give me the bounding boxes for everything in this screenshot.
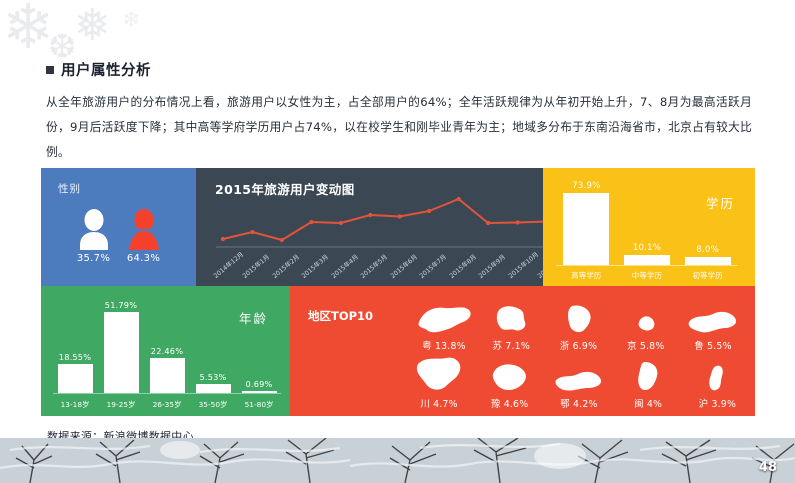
bullet-square-icon [46, 66, 54, 74]
panel-gender-title: 性别 [58, 181, 81, 196]
slide-canvas: ❄ ❅ ❆ ❄ 用户属性分析 从全年旅游用户的分布情况上看，旅游用户以女性为主，… [0, 0, 795, 483]
jiangsu-map-icon [491, 300, 531, 336]
age-bar-value: 5.53% [199, 372, 226, 382]
education-bar-group: 10.1% [621, 180, 673, 265]
region-label: 沪 3.9% [699, 396, 736, 410]
education-x-axis-labels: 高等学历中等学历初等学历 [556, 270, 738, 281]
age-bar [242, 391, 277, 393]
region-row-1: 粤 13.8%苏 7.1%浙 6.9%京 5.8%鲁 5.5% [412, 294, 747, 352]
age-bar [150, 358, 185, 393]
age-bar-value: 22.46% [151, 346, 183, 356]
footer-snow-photo: 48 [0, 438, 795, 483]
male-person-icon [77, 208, 111, 250]
trend-x-tick-label: 2015年2月 [270, 252, 301, 280]
age-bar-value: 18.55% [59, 352, 91, 362]
education-bars: 73.9%10.1%8.0% [556, 180, 738, 266]
zhejiang-map-icon [562, 300, 596, 336]
female-person-icon [127, 208, 161, 250]
age-bar-group: 22.46% [145, 298, 189, 393]
panel-trend: 2015年旅游用户变动图 2014年12月2015年1月2015年2月2015年… [196, 168, 543, 286]
trend-x-tick-label: 2015年7月 [417, 252, 448, 280]
guangdong-map-icon [415, 300, 473, 336]
age-bar [196, 384, 231, 393]
region-label: 豫 4.6% [491, 396, 528, 410]
trend-data-point [368, 213, 372, 217]
page-title-label: 用户属性分析 [61, 59, 151, 80]
region-grid: 粤 13.8%苏 7.1%浙 6.9%京 5.8%鲁 5.5% 川 4.7%豫 … [412, 294, 747, 410]
region-item: 京 5.8% [614, 300, 678, 352]
age-bar-value: 0.69% [245, 379, 272, 389]
gender-female: 64.3% [127, 208, 161, 264]
trend-plot: 2014年12月2015年1月2015年2月2015年3月2015年4月2015… [204, 186, 539, 286]
region-item: 浙 6.9% [547, 300, 611, 352]
region-label: 粤 13.8% [422, 338, 466, 352]
trend-x-tick-label: 2015年8月 [447, 252, 478, 280]
beijing-map-icon [632, 300, 660, 336]
education-bar-value: 8.0% [696, 245, 719, 255]
gender-male-pct: 35.7% [77, 253, 110, 264]
trend-x-tick-label: 2015年1月 [241, 252, 272, 280]
trend-x-tick-label: 2015年5月 [358, 252, 389, 280]
region-item: 闽 4% [623, 358, 674, 410]
trend-x-tick-label: 2015年3月 [300, 252, 331, 280]
age-bar-group: 51.79% [99, 298, 143, 393]
age-bar-group: 5.53% [191, 298, 235, 393]
age-bar-group: 0.69% [237, 298, 281, 393]
region-label: 鄂 4.2% [560, 396, 597, 410]
education-x-tick-label: 高等学历 [560, 270, 612, 281]
trend-data-point [486, 221, 490, 225]
panel-gender: 性别 35.7% [41, 168, 196, 286]
region-item: 川 4.7% [412, 358, 466, 410]
age-bar [104, 312, 139, 393]
panel-age: 年龄 18.55%51.79%22.46%5.53%0.69% 13-18岁19… [41, 286, 290, 416]
gender-figures: 35.7% 64.3% [41, 208, 196, 264]
education-bar [685, 257, 731, 265]
region-item: 沪 3.9% [692, 358, 743, 410]
trend-x-tick-label: 2014年12月 [211, 250, 245, 280]
age-bars: 18.55%51.79%22.46%5.53%0.69% [53, 298, 281, 394]
sichuan-map-icon [412, 358, 466, 394]
region-item: 苏 7.1% [479, 300, 543, 352]
age-plot: 18.55%51.79%22.46%5.53%0.69% [53, 298, 281, 394]
trend-x-tick-label: 2015年9月 [476, 252, 507, 280]
trend-data-point [398, 214, 402, 218]
trend-data-point [457, 197, 461, 201]
education-x-tick-label: 中等学历 [621, 270, 673, 281]
region-item: 豫 4.6% [484, 358, 535, 410]
education-x-tick-label: 初等学历 [682, 270, 734, 281]
region-label: 京 5.8% [627, 338, 664, 352]
trend-data-point [339, 221, 343, 225]
age-x-tick-label: 51-80岁 [237, 399, 281, 410]
trend-line-svg [216, 190, 543, 250]
trend-x-tick-label: 2015年10月 [506, 250, 540, 280]
region-row-2: 川 4.7%豫 4.6%鄂 4.2%闽 4%沪 3.9% [412, 352, 747, 410]
education-bar [624, 255, 670, 265]
education-bar-value: 10.1% [633, 243, 661, 253]
trend-x-axis-labels: 2014年12月2015年1月2015年2月2015年3月2015年4月2015… [204, 242, 539, 286]
gender-male: 35.7% [77, 208, 111, 264]
trend-x-tick-label: 2015年6月 [388, 252, 419, 280]
age-x-tick-label: 26-35岁 [145, 399, 189, 410]
henan-map-icon [491, 358, 529, 394]
age-x-axis-labels: 13-18岁19-25岁26-35岁35-50岁51-80岁 [53, 399, 281, 410]
region-label: 鲁 5.5% [694, 338, 731, 352]
snowflake-icon: ❄ [122, 10, 140, 32]
fujian-map-icon [633, 358, 663, 394]
panel-education: 学历 73.9%10.1%8.0% 高等学历中等学历初等学历 [543, 168, 755, 286]
education-plot: 73.9%10.1%8.0% [556, 180, 738, 266]
region-item: 粤 13.8% [412, 300, 476, 352]
dashboard-row-bottom: 年龄 18.55%51.79%22.46%5.53%0.69% 13-18岁19… [41, 286, 755, 416]
dashboard-row-top: 性别 35.7% [41, 168, 755, 286]
age-x-tick-label: 35-50岁 [191, 399, 235, 410]
education-bar-group: 8.0% [682, 180, 734, 265]
trend-x-tick-label: 2015年4月 [329, 252, 360, 280]
age-bar-group: 18.55% [53, 298, 97, 393]
education-bar-value: 73.9% [572, 181, 600, 191]
page-number: 48 [759, 460, 777, 475]
snowflake-icon: ❄ [2, 0, 54, 58]
region-label: 闽 4% [634, 396, 662, 410]
region-label: 川 4.7% [420, 396, 457, 410]
panel-region: 地区TOP10 粤 13.8%苏 7.1%浙 6.9%京 5.8%鲁 5.5% … [290, 286, 755, 416]
trend-data-point [427, 209, 431, 213]
body-paragraph: 从全年旅游用户的分布情况上看，旅游用户以女性为主，占全部用户的64%；全年活跃规… [46, 90, 752, 165]
age-x-tick-label: 19-25岁 [99, 399, 143, 410]
region-item: 鄂 4.2% [553, 358, 604, 410]
dashboard: 性别 35.7% [41, 168, 755, 416]
trend-data-point [250, 230, 254, 234]
gender-female-pct: 64.3% [127, 253, 160, 264]
panel-region-title: 地区TOP10 [308, 308, 373, 324]
snow-trees-illustration [0, 438, 795, 483]
region-label: 浙 6.9% [560, 338, 597, 352]
trend-data-point [221, 237, 225, 241]
education-bar [563, 193, 609, 265]
snowflake-icon: ❅ [74, 4, 111, 48]
hubei-map-icon [554, 358, 604, 394]
region-label: 苏 7.1% [493, 338, 530, 352]
age-x-tick-label: 13-18岁 [53, 399, 97, 410]
shandong-map-icon [687, 300, 739, 336]
shanghai-map-icon [706, 358, 728, 394]
education-bar-group: 73.9% [560, 180, 612, 265]
trend-data-point [515, 220, 519, 224]
age-bar-value: 51.79% [105, 300, 137, 310]
age-bar [58, 364, 93, 393]
trend-data-point [309, 220, 313, 224]
page-title: 用户属性分析 [46, 59, 151, 80]
region-item: 鲁 5.5% [681, 300, 745, 352]
